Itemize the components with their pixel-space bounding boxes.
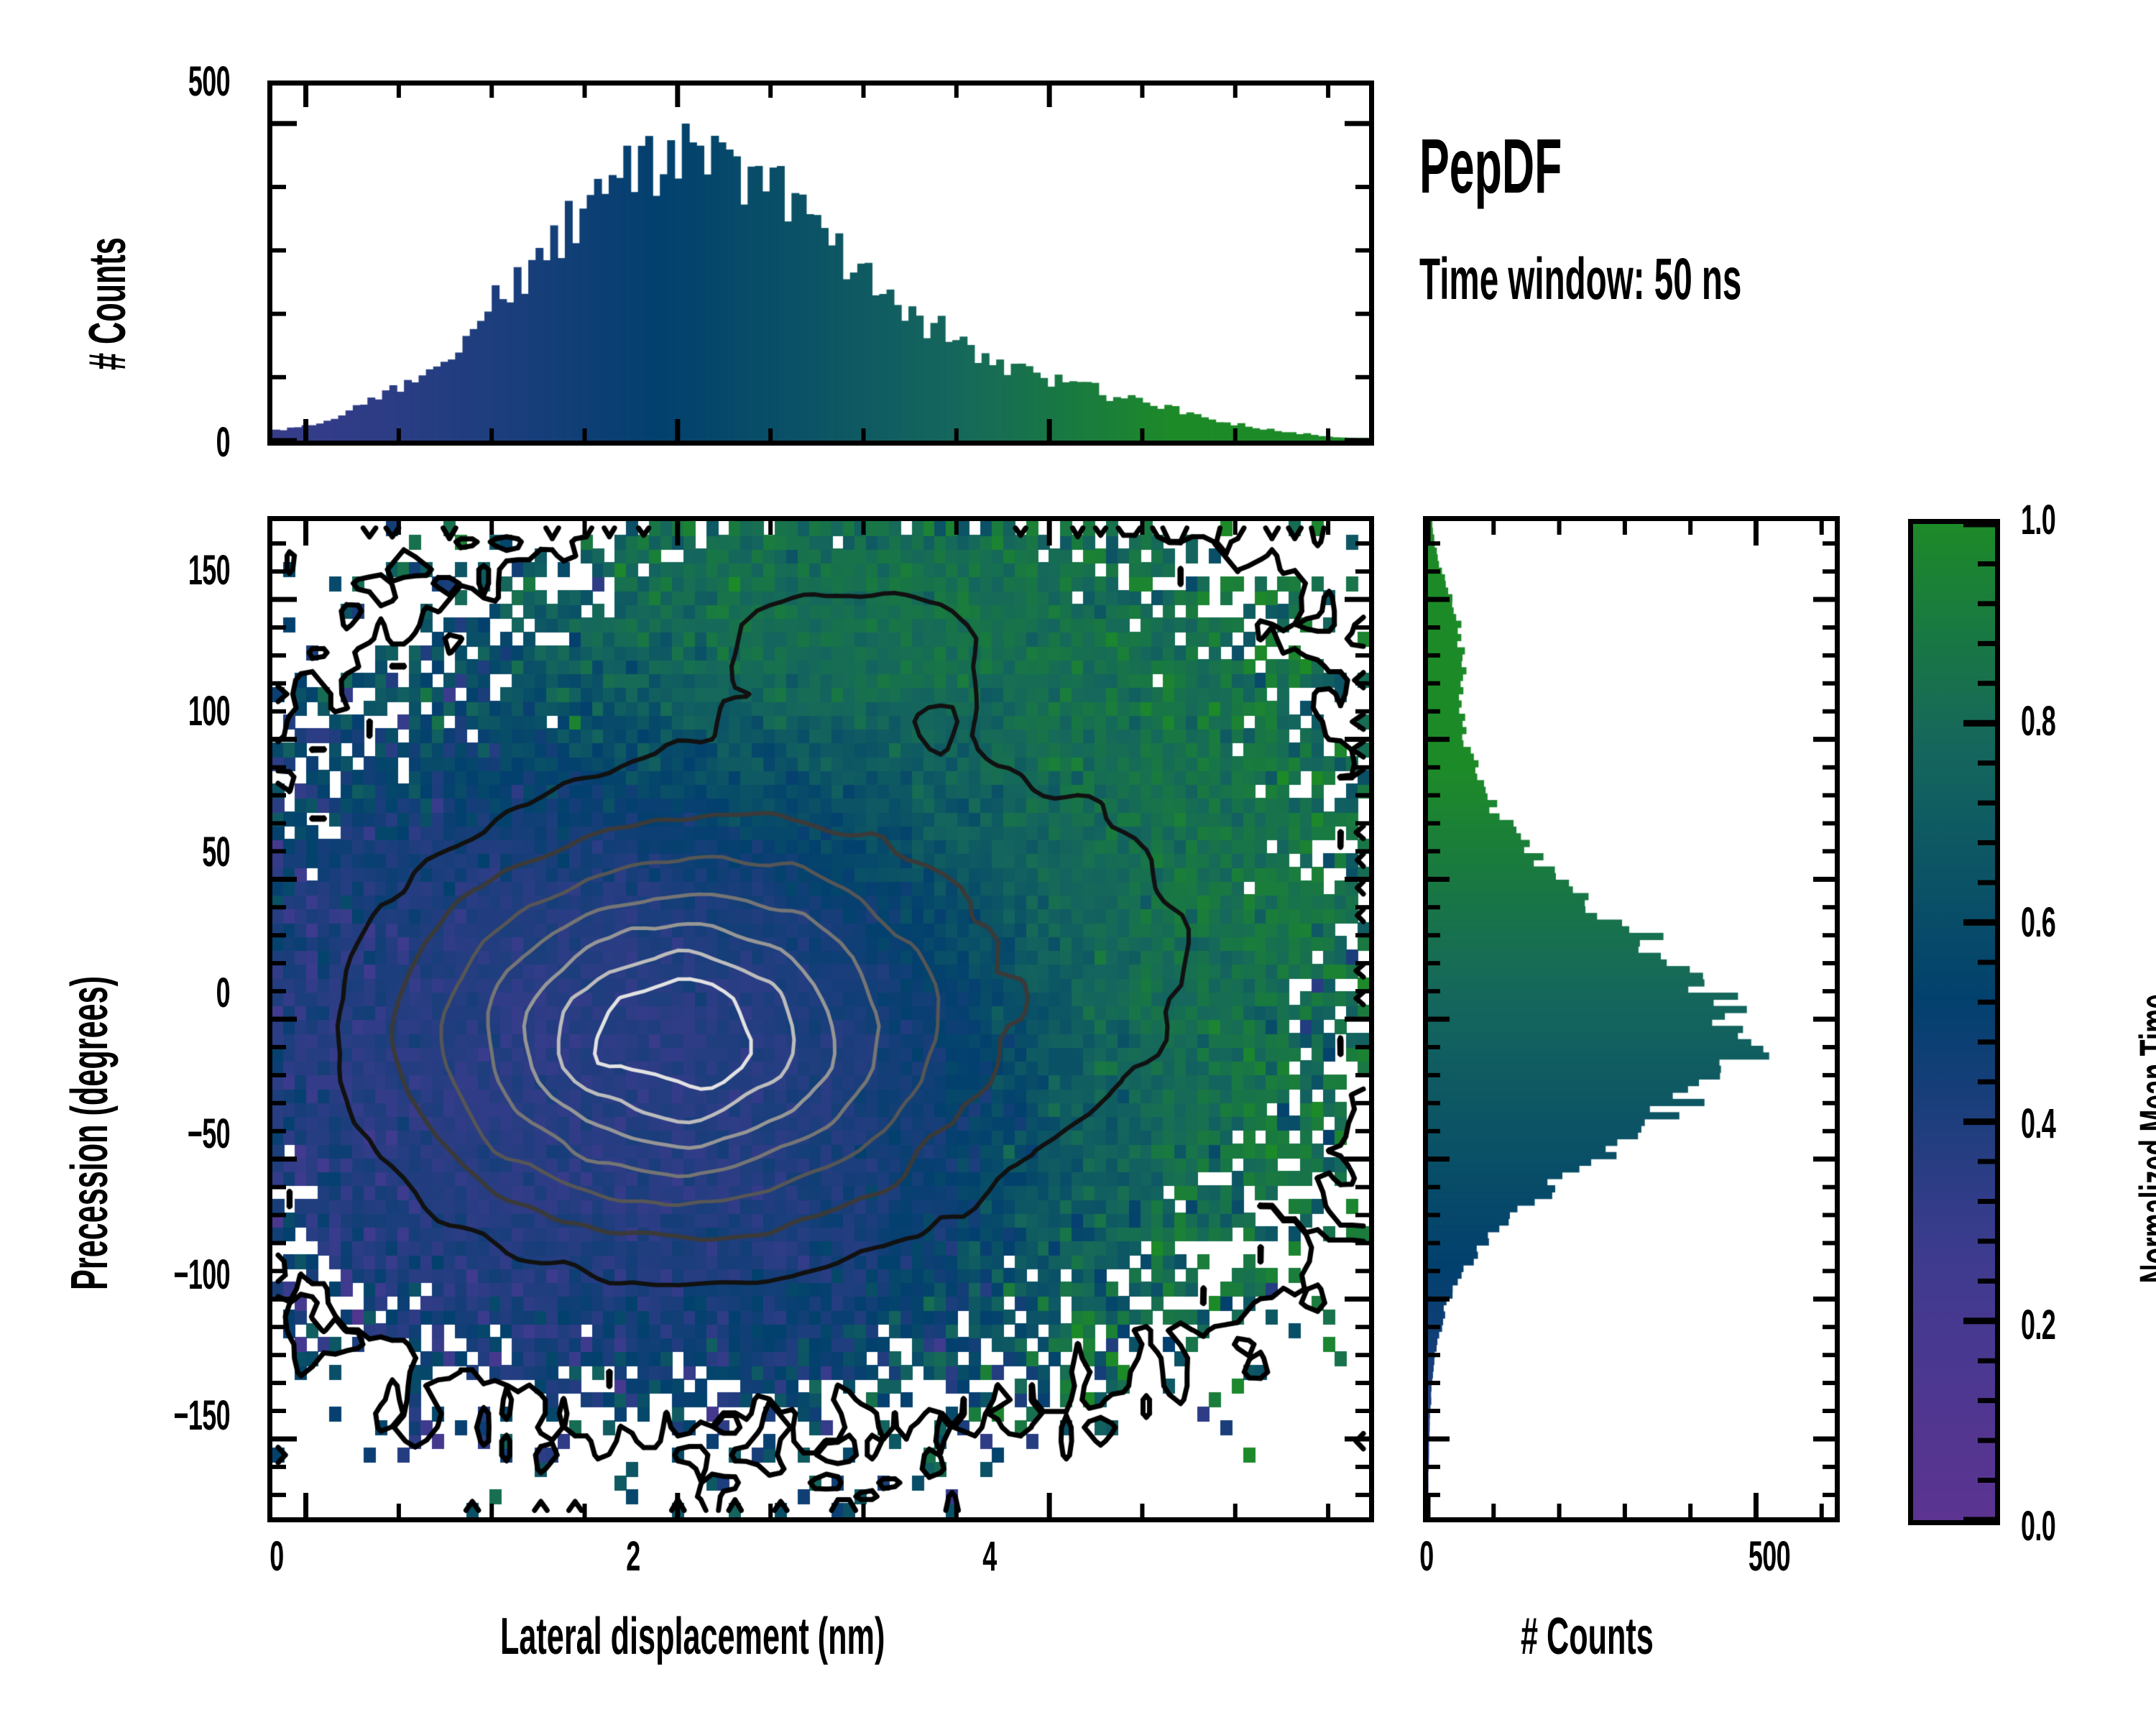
main-ytick-0: 0 — [123, 969, 230, 1017]
page-subtitle-text: Time window: 50 ns — [1419, 246, 1741, 313]
right-xlabel: # Counts — [1423, 1607, 1840, 1666]
main-ytick-150: 150 — [123, 546, 230, 594]
main-xlabel-text: Lateral displacement (nm) — [500, 1607, 885, 1666]
main-ytick-neg150: −150 — [123, 1391, 230, 1440]
page-title-text: PepDF — [1419, 121, 1562, 211]
colorbar-tick-0-6: 0.6 — [2021, 898, 2137, 947]
right-xtick-0: 0 — [1382, 1532, 1471, 1581]
top-ytick-500: 500 — [132, 57, 230, 106]
top-ytick-0: 0 — [132, 418, 230, 466]
top-ylabel: # Counts — [78, 109, 137, 410]
colorbar-label-text: Normalized Mean Time — [2131, 994, 2156, 1283]
colorbar-gradient — [1913, 524, 1995, 1520]
main-ytick-50: 50 — [123, 828, 230, 876]
main-ytick-neg100: −100 — [123, 1251, 230, 1299]
main-xtick-0: 0 — [228, 1532, 326, 1581]
colorbar-label: Normalized Mean Time — [2131, 755, 2156, 1330]
right-xtick-500: 500 — [1725, 1532, 1814, 1581]
colorbar-tick-1-0: 1.0 — [2021, 496, 2137, 544]
main-ytick-neg50: −50 — [123, 1110, 230, 1158]
right-xlabel-text: # Counts — [1521, 1607, 1654, 1666]
right-histogram-plot — [1428, 521, 1835, 1517]
main-ytick-100: 100 — [123, 687, 230, 735]
colorbar[interactable] — [1908, 519, 2000, 1525]
main-xlabel: Lateral displacement (nm) — [246, 1607, 1396, 1666]
main-heatmap-plot — [272, 521, 1369, 1517]
colorbar-tick-0-4: 0.4 — [2021, 1100, 2137, 1148]
main-xtick-2: 2 — [584, 1532, 682, 1581]
colorbar-tick-0-0: 0.0 — [2021, 1502, 2137, 1550]
main-ylabel: Precession (degrees) — [60, 755, 119, 1302]
figure-canvas: 500 0 # Counts PepDF Time window: 50 ns … — [0, 0, 2156, 1725]
top-ylabel-text: # Counts — [78, 237, 137, 370]
page-title: PepDF — [1419, 121, 1665, 211]
top-histogram-plot — [272, 86, 1369, 441]
main-xtick-4: 4 — [941, 1532, 1038, 1581]
colorbar-tick-0-8: 0.8 — [2021, 697, 2137, 745]
colorbar-tick-0-2: 0.2 — [2021, 1301, 2137, 1349]
main-ylabel-text: Precession (degrees) — [60, 976, 119, 1290]
page-subtitle: Time window: 50 ns — [1419, 246, 1975, 313]
